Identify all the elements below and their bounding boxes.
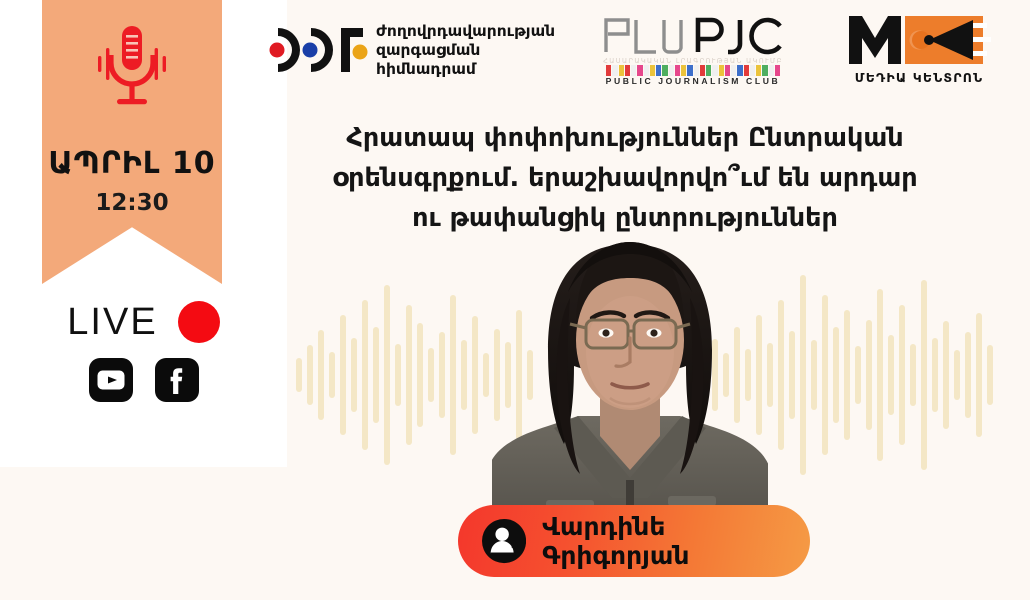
live-status: LIVE bbox=[0, 296, 287, 348]
waveform-bar bbox=[384, 285, 390, 465]
ddf-logo-text-line2: զարգացման bbox=[376, 41, 576, 60]
waveform-bar bbox=[417, 323, 423, 427]
youtube-icon[interactable] bbox=[89, 358, 133, 402]
waveform-bar bbox=[899, 305, 905, 445]
pjc-color-bar bbox=[619, 65, 624, 76]
page-title-line2: օրենսգրքում. երաշխավորվո՞ւմ են արդար bbox=[315, 158, 935, 198]
public-journalism-club-logo: ՀԱՍԱՐԱԿԱԿԱՆ ԼՐԱԳՐՈՒԹՅԱՆ ԱԿՈՒՄԲ PUBLIC JO… bbox=[598, 8, 788, 92]
pjc-armenian-tagline: ՀԱՍԱՐԱԿԱԿԱՆ ԼՐԱԳՐՈՒԹՅԱՆ ԱԿՈՒՄԲ bbox=[598, 57, 788, 65]
ddf-logo-text-line1: ժողովրդավարության bbox=[376, 22, 576, 41]
waveform-bar bbox=[362, 300, 368, 450]
waveform-bar bbox=[855, 346, 861, 404]
page-title: Հրատապ փոփոխություններ Ընտրական օրենսգրք… bbox=[315, 118, 935, 238]
live-red-dot-icon bbox=[178, 301, 220, 343]
waveform-bar bbox=[921, 280, 927, 470]
waveform-bar bbox=[428, 348, 434, 402]
waveform-bar bbox=[472, 316, 478, 434]
event-date: ԱՊՐԻԼ 10 bbox=[42, 146, 222, 181]
waveform-bar bbox=[910, 344, 916, 406]
waveform-bar bbox=[450, 295, 456, 455]
person-icon bbox=[482, 518, 526, 564]
waveform-bar bbox=[461, 340, 467, 410]
waveform-bar bbox=[866, 320, 872, 430]
pjc-color-bar bbox=[756, 65, 761, 76]
event-time: 12:30 bbox=[42, 190, 222, 216]
media-center-logo-text: ՄԵԴԻԱ ԿԵՆՏՐՈՆ bbox=[843, 70, 995, 85]
waveform-bar bbox=[800, 275, 806, 475]
pjc-color-bar bbox=[744, 65, 749, 76]
waveform-bar bbox=[789, 331, 795, 419]
waveform-bar bbox=[877, 289, 883, 461]
page-title-line3: ու թափանցիկ ընտրություններ bbox=[315, 198, 935, 238]
ddf-logo-text: ժողովրդավարության զարգացման հիմնադրամ bbox=[376, 22, 576, 79]
pjc-color-bar bbox=[775, 65, 780, 76]
pjc-color-bar bbox=[606, 65, 611, 76]
pjc-color-bar bbox=[700, 65, 705, 76]
waveform-bar bbox=[307, 345, 313, 405]
waveform-bar bbox=[888, 335, 894, 415]
ddf-mark-icon bbox=[268, 22, 372, 82]
waveform-bar bbox=[844, 310, 850, 440]
pjc-color-bar bbox=[694, 65, 699, 76]
waveform-bar bbox=[833, 327, 839, 423]
pjc-color-bar bbox=[625, 65, 630, 76]
waveform-bar bbox=[822, 295, 828, 455]
pjc-color-bar bbox=[719, 65, 724, 76]
waveform-bar bbox=[954, 350, 960, 400]
pjc-color-bar bbox=[656, 65, 661, 76]
pjc-color-bar bbox=[687, 65, 692, 76]
waveform-bar bbox=[406, 305, 412, 445]
waveform-bar bbox=[976, 313, 982, 437]
pjc-wordmark-icon bbox=[598, 10, 788, 58]
pjc-color-bar bbox=[669, 65, 674, 76]
page-title-line1: Հրատապ փոփոխություններ Ընտրական bbox=[315, 118, 935, 158]
waveform-bar bbox=[943, 321, 949, 429]
pjc-color-bar bbox=[681, 65, 686, 76]
ddf-logo-text-line3: հիմնադրամ bbox=[376, 60, 576, 79]
pjc-color-bar bbox=[762, 65, 767, 76]
speaker-name: Վարդինե Գրիգորյան bbox=[542, 512, 810, 570]
banner-root: ԱՊՐԻԼ 10 12:30 LIVE bbox=[0, 0, 1030, 600]
speaker-name-badge: Վարդինե Գրիգորյան bbox=[458, 505, 810, 577]
waveform-bar bbox=[318, 330, 324, 420]
pjc-color-bar bbox=[650, 65, 655, 76]
pjc-color-bar bbox=[750, 65, 755, 76]
pjc-color-bar bbox=[637, 65, 642, 76]
waveform-bar bbox=[373, 327, 379, 423]
pjc-color-bar bbox=[662, 65, 667, 76]
pjc-color-bar bbox=[706, 65, 711, 76]
pjc-color-bar bbox=[737, 65, 742, 76]
partner-logos: ժողովրդավարության զարգացման հիմնադրամ Հ bbox=[0, 8, 1030, 100]
democracy-development-foundation-logo: ժողովրդավարության զարգացման հիմնադրամ bbox=[268, 8, 568, 92]
live-label: LIVE bbox=[67, 301, 157, 344]
pjc-color-bar bbox=[644, 65, 649, 76]
waveform-bar bbox=[439, 332, 445, 418]
pjc-color-bar bbox=[675, 65, 680, 76]
waveform-bar bbox=[395, 344, 401, 406]
waveform-bar bbox=[483, 353, 489, 397]
pjc-color-bar bbox=[612, 65, 617, 76]
pjc-color-bar bbox=[731, 65, 736, 76]
pjc-color-bar bbox=[631, 65, 636, 76]
waveform-bar bbox=[932, 338, 938, 412]
waveform-bar bbox=[296, 358, 302, 392]
pjc-color-bar bbox=[725, 65, 730, 76]
pjc-color-bar bbox=[712, 65, 717, 76]
waveform-bar bbox=[351, 338, 357, 412]
waveform-bar bbox=[340, 315, 346, 435]
waveform-bar bbox=[965, 332, 971, 418]
pjc-color-bars bbox=[606, 65, 780, 76]
social-links bbox=[0, 354, 287, 406]
media-center-mark-icon bbox=[843, 10, 995, 68]
pjc-color-bar bbox=[769, 65, 774, 76]
waveform-bar bbox=[329, 352, 335, 398]
waveform-bar bbox=[778, 300, 784, 450]
pjc-tagline: PUBLIC JOURNALISM CLUB bbox=[598, 76, 788, 86]
waveform-bar bbox=[987, 345, 993, 405]
media-center-logo: ՄԵԴԻԱ ԿԵՆՏՐՈՆ bbox=[843, 8, 995, 92]
facebook-icon[interactable] bbox=[155, 358, 199, 402]
waveform-bar bbox=[811, 340, 817, 410]
